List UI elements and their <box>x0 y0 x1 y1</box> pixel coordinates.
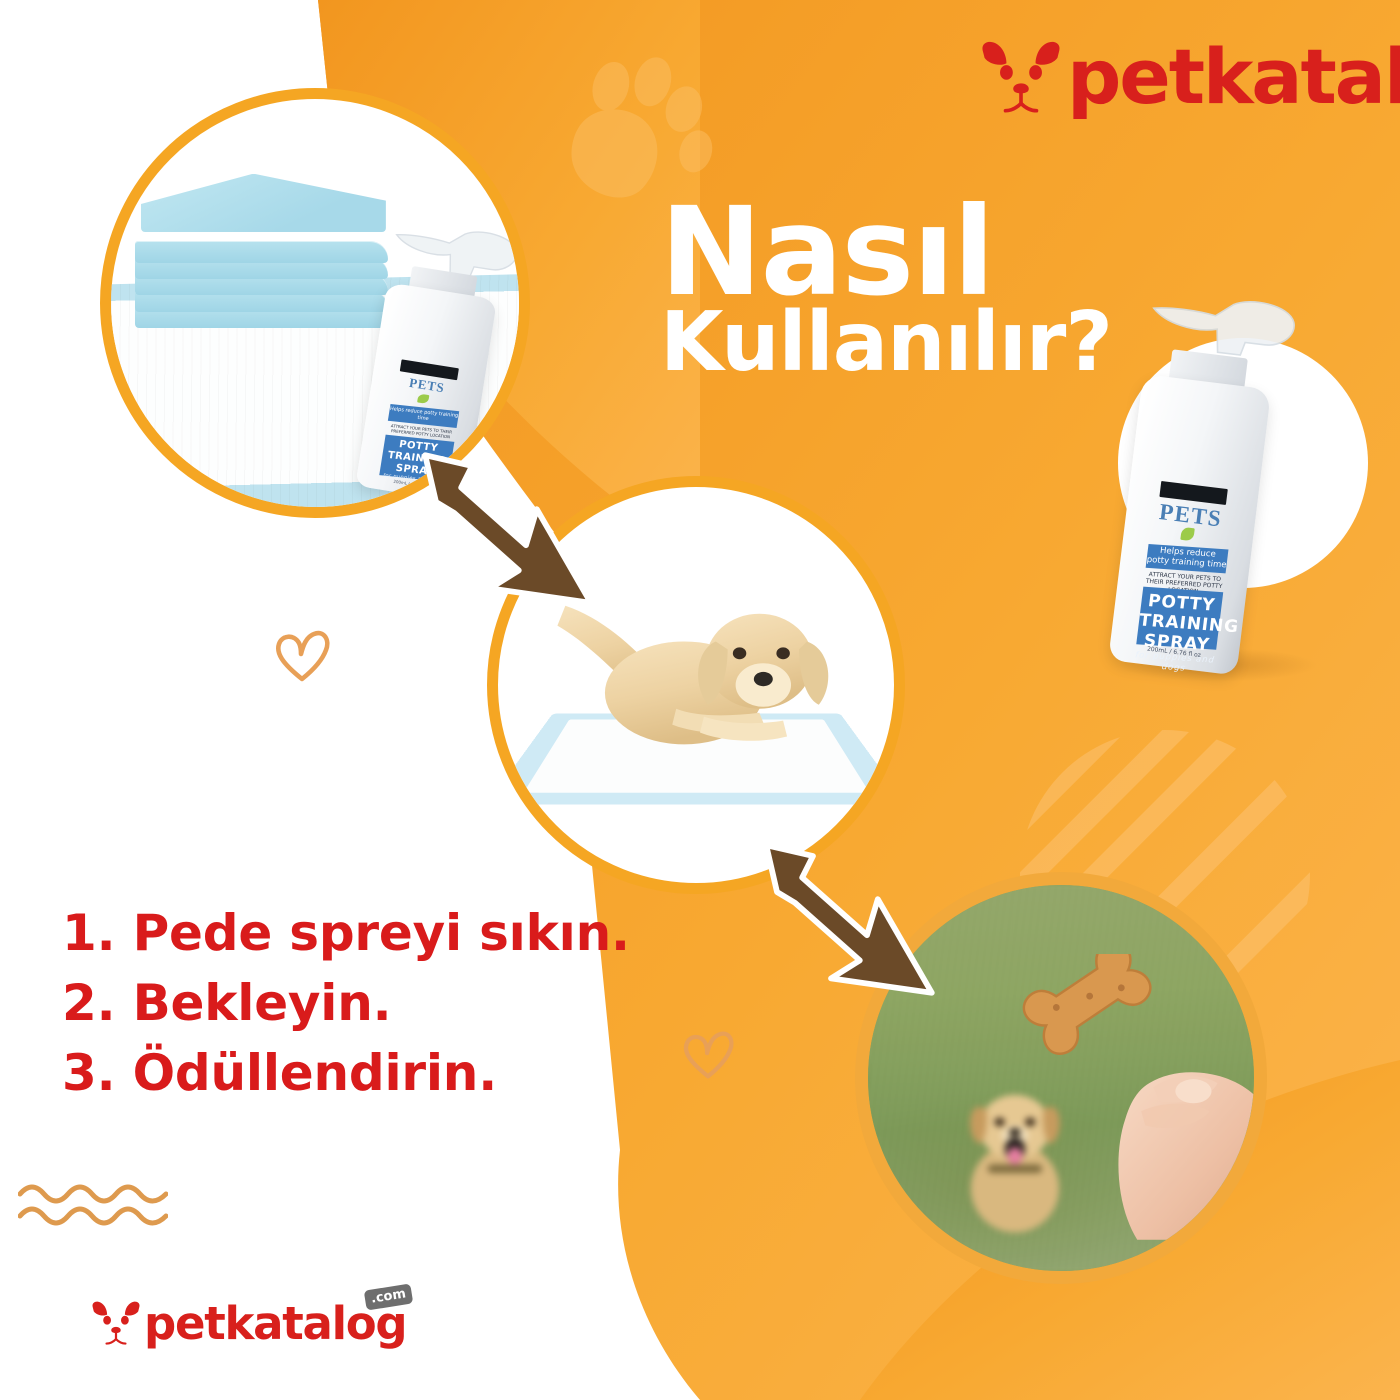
poster-canvas: PETS Helps reduce potty training time AT… <box>0 0 1400 1400</box>
step-item-2: 2. Bekleyin. <box>62 968 630 1038</box>
pad-stack <box>135 177 388 324</box>
dog-face-icon <box>975 36 1067 118</box>
headline: Nasıl Kullanılır? <box>660 196 1112 384</box>
brand-logo-bottom[interactable]: petkatalog .com <box>88 1298 406 1348</box>
hero-bottle-product-name: POTTY TRAINING SPRAY for puppies and dog… <box>1136 586 1223 649</box>
heart-outline-icon <box>680 1028 736 1080</box>
heart-outline-icon <box>272 627 332 683</box>
brand-logo-top[interactable]: petkatalog .com <box>975 36 1400 118</box>
brand-logo-wordmark: petkatalog <box>1067 39 1400 115</box>
steps-list: 1. Pede spreyi sıkın. 2. Bekleyin. 3. Öd… <box>62 898 630 1108</box>
step-item-3: 3. Ödüllendirin. <box>62 1038 630 1108</box>
headline-line-1: Nasıl <box>660 196 1112 308</box>
hero-bottle-claim: Helps reduce potty training time <box>1145 544 1228 574</box>
dog-face-icon <box>88 1298 144 1348</box>
arrow-puppy-to-treat-icon <box>758 838 940 1000</box>
bone-biscuit-icon <box>1022 954 1176 1078</box>
arrow-pads-to-puppy-icon <box>418 448 598 610</box>
step-item-1: 1. Pede spreyi sıkın. <box>62 898 630 968</box>
headline-line-2: Kullanılır? <box>660 302 1112 384</box>
wavy-lines-icon <box>18 1178 168 1238</box>
